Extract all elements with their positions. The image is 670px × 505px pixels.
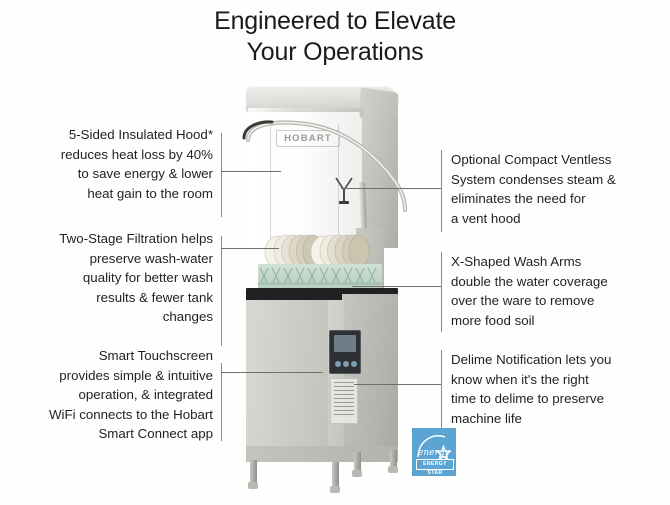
page-title: Engineered to Elevate Your Operations [0, 6, 670, 68]
callout-line: preserve wash-water [10, 249, 213, 269]
callout-line: System condenses steam & [451, 170, 663, 190]
bracket-right-middle [441, 252, 442, 332]
bracket-left-bottom [221, 363, 222, 441]
foot-front-left [248, 482, 258, 489]
foot-rear-left [352, 470, 362, 477]
callout-line: WiFi connects to the Hobart [10, 405, 213, 425]
leader-left-middle [221, 248, 279, 249]
callout-line: Smart Connect app [10, 424, 213, 444]
callout-ventless-system: Optional Compact Ventless System condens… [451, 150, 663, 228]
infographic-canvas: Engineered to Elevate Your Operations HO… [0, 0, 670, 505]
dish-plates-group [262, 226, 378, 268]
callout-line: double the water coverage [451, 272, 663, 292]
callout-line: Smart Touchscreen [10, 346, 213, 366]
energy-star-mark: energy ENERGY STAR [415, 431, 453, 473]
energy-star-wordmark: ENERGY STAR [416, 459, 454, 470]
callout-line: eliminates the need for [451, 189, 663, 209]
callout-line: quality for better wash [10, 268, 213, 288]
callout-line: Optional Compact Ventless [451, 150, 663, 170]
callout-line: heat gain to the room [10, 184, 213, 204]
callout-line: machine life [451, 409, 663, 429]
callout-delime-notification: Delime Notification lets you know when i… [451, 350, 663, 428]
callout-line: operation, & integrated [10, 385, 213, 405]
leader-right-top [341, 188, 441, 189]
foot-front-right [330, 486, 340, 493]
bracket-left-top [221, 133, 222, 217]
dish-rack-lattice [258, 266, 382, 286]
callout-line: Delime Notification lets you [451, 350, 663, 370]
page-title-line-1: Engineered to Elevate [0, 6, 670, 37]
callout-line: provides simple & intuitive [10, 366, 213, 386]
leader-left-top [221, 171, 281, 172]
callout-line: to save energy & lower [10, 164, 213, 184]
callout-line: changes [10, 307, 213, 327]
callout-x-shaped-wash-arms: X-Shaped Wash Arms double the water cove… [451, 252, 663, 330]
control-button-center[interactable] [343, 361, 349, 367]
bracket-left-middle [221, 236, 222, 346]
hood-handle [242, 118, 412, 236]
foot-rear-right [388, 466, 398, 473]
control-button-left[interactable] [335, 361, 341, 367]
callout-line: results & fewer tank [10, 288, 213, 308]
page-title-line-2: Your Operations [0, 37, 670, 68]
callout-smart-touchscreen: Smart Touchscreen provides simple & intu… [10, 346, 213, 444]
callout-line: reduces heat loss by 40% [10, 145, 213, 165]
energy-star-script-text: energy [418, 448, 450, 458]
callout-insulated-hood: 5-Sided Insulated Hood* reduces heat los… [10, 125, 213, 203]
callout-line: more food soil [451, 311, 663, 331]
leader-left-bottom [221, 372, 323, 373]
smart-touchscreen-panel[interactable] [329, 330, 361, 374]
leader-right-bottom [354, 384, 441, 385]
control-button-right[interactable] [351, 361, 357, 367]
leader-right-middle [352, 286, 441, 287]
cabinet-base-skirt [246, 446, 398, 462]
callout-line: time to delime to preserve [451, 389, 663, 409]
wash-arm-nozzle-icon [328, 174, 378, 208]
callout-two-stage-filtration: Two-Stage Filtration helps preserve wash… [10, 229, 213, 327]
callout-line: X-Shaped Wash Arms [451, 252, 663, 272]
cabinet-control-column [328, 300, 344, 450]
callout-line: a vent hood [451, 209, 663, 229]
callout-line: know when it's the right [451, 370, 663, 390]
callout-line: 5-Sided Insulated Hood* [10, 125, 213, 145]
callout-line: Two-Stage Filtration helps [10, 229, 213, 249]
touchscreen-display[interactable] [334, 335, 356, 352]
dishwasher-illustration: HOBART [232, 78, 422, 490]
bracket-right-top [441, 150, 442, 232]
callout-line: over the ware to remove [451, 291, 663, 311]
bracket-right-bottom [441, 350, 442, 428]
energy-star-logo: energy ENERGY STAR [412, 428, 456, 476]
